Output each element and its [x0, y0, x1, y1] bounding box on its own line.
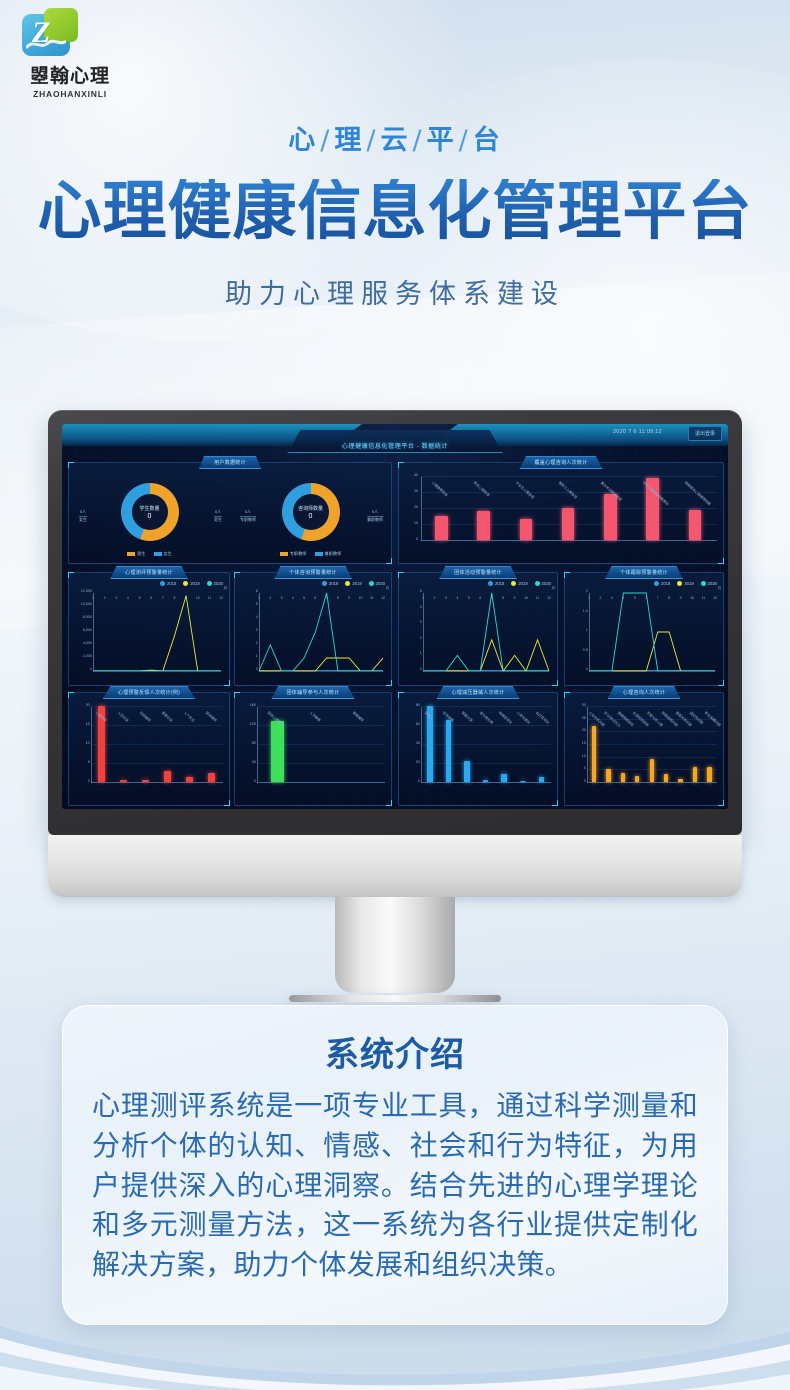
y-tick-label: 1	[420, 651, 422, 655]
y-tick-label: 4	[256, 615, 258, 619]
y-tick-label: 2,000	[83, 654, 92, 658]
line-series-svg	[589, 593, 715, 671]
brand-name-cn: 曌翰心理	[14, 61, 126, 88]
x-tick-label: 4	[292, 596, 294, 600]
x-tick-label: 教职工心理普查	[557, 480, 578, 500]
donut-donut-counselors: 咨询师数量00人专职教师0人兼职教师专职教师兼职教师	[230, 483, 391, 561]
legend-item[interactable]: 2019	[345, 581, 361, 586]
y-tick-label: 25	[582, 716, 586, 720]
brand-name-en: ZHAOHANXINLI	[14, 89, 126, 99]
x-tick-label: 班级辅导	[138, 710, 151, 723]
monitor-mockup: 心理健康信息化管理平台 - 数据统计 2020 7 6 11:09:12 退出登…	[48, 410, 742, 1002]
donut-donut-students: 学生数量00人女生0人男生男生女生	[69, 483, 230, 561]
legend-item[interactable]: 2018	[654, 581, 670, 586]
system-intro-card: 系统介绍 心理测评系统是一项专业工具，通过科学测量和分析个体的认知、情感、社会和…	[62, 1005, 728, 1325]
x-tick-label: 12	[547, 596, 551, 600]
y-tick-label: 1	[586, 628, 588, 632]
x-tick-label: 10	[359, 596, 363, 600]
chart-panel-title: 心理测评预警量统计	[110, 566, 188, 579]
hero-kicker: 心/理/云/平/台	[0, 118, 790, 157]
y-tick-label: 5	[420, 589, 422, 593]
bar	[621, 773, 625, 782]
line-series-svg	[423, 593, 549, 671]
bar	[120, 780, 127, 782]
y-tick-label: 10	[414, 521, 418, 525]
y-tick-label: 0	[256, 667, 258, 671]
x-tick-label: 1	[258, 596, 260, 600]
monitor-stand-base	[289, 995, 501, 1002]
gridline	[587, 757, 717, 758]
donut-legend: 男生女生	[69, 551, 230, 557]
x-tick-label: 12	[381, 596, 385, 600]
y-tick-label: 40	[414, 473, 418, 477]
chart-panel-p1[interactable]: 用户数据统计学生数量00人女生0人男生男生女生咨询师数量00人专职教师0人兼职教…	[68, 462, 392, 564]
x-tick-label: 心率反馈仪	[516, 710, 532, 725]
plot-area: 00.511.52123456789101112月	[589, 593, 715, 671]
y-tick-label: 10,000	[81, 602, 92, 606]
line-series-2020	[589, 593, 715, 671]
bar	[693, 767, 697, 782]
bar	[592, 726, 596, 782]
bar	[604, 494, 617, 540]
plot-area: 04080120160团体心理辅导入学教育朋辈辅导	[257, 707, 385, 783]
chart-legend: 201820192020	[488, 581, 551, 586]
legend-item[interactable]: 2020	[207, 581, 223, 586]
x-tick-label: 家庭访谈	[160, 710, 173, 723]
gridline	[587, 744, 717, 745]
hero-kicker-separator: /	[459, 125, 470, 156]
chart-panel-p5[interactable]: 团体活动预警量统计012345123456789101112月201820192…	[398, 572, 558, 686]
bar	[435, 516, 448, 540]
x-tick-label: 击打宣泄仪	[535, 710, 551, 725]
chart-panel-p9[interactable]: 心理减压器械人次统计020406080宣泄人宣泄球棒智能沙盘音乐放松椅呐喊宣泄仪…	[398, 692, 558, 806]
x-tick-label: 团体辅导	[204, 710, 217, 723]
x-tick-label: 音乐放松椅	[479, 710, 495, 725]
y-tick-label: 40	[416, 741, 420, 745]
y-axis	[421, 477, 422, 541]
x-tick-label: 毕业生心理普查	[515, 480, 536, 500]
plot-area: 010203040心理健康普查新生心理普查毕业生心理普查教职工心理普查重点关注群…	[421, 477, 717, 541]
donut-ring: 咨询师数量0	[282, 483, 340, 541]
bar	[464, 761, 470, 782]
page-title: 心理健康信息化管理平台	[0, 179, 790, 246]
plot-area: 02,0004,0006,0008,00010,00012,0001234567…	[93, 593, 221, 671]
x-tick-label: 心理健康普查	[430, 480, 448, 497]
plot-area: 0123456123456789101112月	[259, 593, 383, 671]
y-tick-label: 0	[88, 779, 90, 783]
legend-item: 女生	[154, 551, 172, 557]
legend-item[interactable]: 2020	[369, 581, 385, 586]
y-tick-label: 15	[86, 722, 90, 726]
brand-logo: Z 曌翰心理 ZHAOHANXINLI	[14, 8, 124, 99]
dashboard-clock: 2020 7 6 11:09:12	[613, 429, 662, 435]
gridline	[421, 744, 551, 745]
bottom-wave-decoration	[0, 1280, 790, 1390]
x-tick-label: 12	[713, 596, 717, 600]
legend-item: 专职教师	[280, 551, 307, 557]
y-tick-label: 0	[418, 779, 420, 783]
x-tick-label: 4	[622, 596, 624, 600]
donut-value: 0	[148, 513, 152, 520]
chart-panel-title: 团体活动预警量统计	[439, 566, 517, 579]
chart-panel-title: 心理预警反馈人次统计(例)	[103, 686, 195, 699]
y-tick-label: 80	[252, 741, 256, 745]
y-tick-label: 0	[254, 779, 256, 783]
y-tick-label: 15	[582, 741, 586, 745]
x-tick-label: 8	[174, 596, 176, 600]
line-series-2019	[423, 640, 549, 671]
y-tick-label: 20	[86, 703, 90, 707]
x-tick-label: 5	[634, 596, 636, 600]
x-tick-label: 呐喊宣泄仪	[497, 710, 513, 725]
bar	[208, 773, 215, 783]
x-tick-label: 9	[680, 596, 682, 600]
hero-kicker-char: 心	[288, 125, 317, 156]
donut-side-label: 0人专职教师	[240, 509, 256, 523]
bar	[562, 508, 575, 540]
gridline	[91, 782, 223, 783]
bar	[501, 774, 507, 782]
donut-center: 学生数量0	[132, 494, 168, 530]
plot-area: 012345123456789101112月	[423, 593, 549, 671]
x-tick-label: 6	[479, 596, 481, 600]
dashboard-title: 心理健康信息化管理平台 - 数据统计	[62, 441, 728, 450]
donut-label: 学生数量	[139, 505, 159, 512]
x-tick-label: 2	[104, 596, 106, 600]
x-tick-label: 2	[600, 596, 602, 600]
y-tick-label: 12,000	[81, 589, 92, 593]
y-tick-label: 1.5	[583, 609, 588, 613]
monitor-bezel: 心理健康信息化管理平台 - 数据统计 2020 7 6 11:09:12 退出登…	[48, 410, 742, 835]
chart-panel-title: 个体跟踪预警量统计	[605, 566, 683, 579]
chart-panel-p8[interactable]: 团体辅导参与人次统计04080120160团体心理辅导入学教育朋辈辅导	[234, 692, 392, 806]
legend-item: 兼职教师	[315, 551, 342, 557]
legend-item[interactable]: 2019	[511, 581, 527, 586]
line-series-2019	[259, 658, 383, 671]
bar	[606, 769, 610, 782]
chart-panel-title: 个体咨询预警量统计	[274, 566, 352, 579]
donut-label: 咨询师数量	[298, 505, 323, 512]
x-tick-label: 1	[422, 596, 424, 600]
x-tick-label: 11	[702, 596, 706, 600]
bar	[635, 776, 639, 782]
bar	[664, 774, 668, 782]
line-series-svg	[93, 593, 221, 671]
gridline	[587, 782, 717, 783]
legend-item[interactable]: 2019	[677, 581, 693, 586]
x-axis-label: 月	[718, 585, 721, 590]
x-tick-label: 7	[326, 596, 328, 600]
chart-panel-title: 团体辅导参与人次统计	[271, 686, 354, 699]
donut-side-label: 0人兼职教师	[367, 509, 383, 523]
plot-area: 05101520心理测评入校访谈班级辅导家庭访谈入户走访团体辅导	[91, 707, 223, 783]
dashboard: 心理健康信息化管理平台 - 数据统计 2020 7 6 11:09:12 退出登…	[62, 424, 728, 809]
y-tick-label: 20	[416, 760, 420, 764]
x-tick-label: 入学教育	[309, 710, 322, 723]
hero-subtitle: 助力心理服务体系建设	[0, 272, 790, 311]
hero-kicker-separator: /	[366, 125, 377, 156]
y-tick-label: 30	[582, 703, 586, 707]
logo-letter: Z	[32, 16, 50, 50]
gridline	[91, 706, 223, 707]
y-tick-label: 20	[414, 505, 418, 509]
monitor-stand-neck	[335, 897, 455, 993]
gridline	[421, 782, 551, 783]
x-tick-label: 8	[502, 596, 504, 600]
gridline	[421, 476, 717, 477]
legend-item[interactable]: 2018	[160, 581, 176, 586]
hero-kicker-separator: /	[320, 125, 331, 156]
hero-kicker-separator: /	[413, 125, 424, 156]
bar	[446, 720, 452, 782]
x-tick-label: 11	[370, 596, 374, 600]
hero-kicker-char: 云	[381, 125, 410, 156]
x-axis-label: 月	[386, 585, 389, 590]
x-tick-label: 入校访谈	[116, 710, 129, 723]
y-tick-label: 2	[256, 641, 258, 645]
y-tick-label: 0	[416, 537, 418, 541]
y-axis	[421, 707, 422, 783]
x-tick-label: 10	[690, 596, 694, 600]
x-tick-label: 4	[127, 596, 129, 600]
y-tick-label: 0	[586, 667, 588, 671]
y-tick-label: 0	[420, 667, 422, 671]
line-series-svg	[259, 593, 383, 671]
intro-body: 心理测评系统是一项专业工具，通过科学测量和分析个体的认知、情感、社会和行为特征，…	[92, 1086, 698, 1285]
line-series-2019	[93, 596, 221, 671]
y-tick-label: 0.5	[583, 648, 588, 652]
gridline	[587, 706, 717, 707]
chart-panel-title: 用户数据统计	[199, 456, 261, 469]
y-tick-label: 10	[582, 754, 586, 758]
chart-panel-p4[interactable]: 个体咨询预警量统计0123456123456789101112月20182019…	[234, 572, 392, 686]
gridline	[587, 731, 717, 732]
plot-area: 051015202530人际关系问题学习/考试压力情绪情感困扰生涯规划困惑恋爱与…	[587, 707, 717, 783]
donut-center: 咨询师数量0	[293, 494, 329, 530]
x-tick-label: 3	[445, 596, 447, 600]
gridline	[91, 744, 223, 745]
intro-heading: 系统介绍	[92, 1027, 698, 1076]
y-tick-label: 30	[414, 489, 418, 493]
logout-button[interactable]: 退出登录	[688, 426, 722, 441]
y-tick-label: 0	[584, 779, 586, 783]
chart-panel-p3[interactable]: 心理测评预警量统计02,0004,0006,0008,00010,00012,0…	[68, 572, 230, 686]
hero-kicker-char: 台	[473, 125, 502, 156]
x-tick-label: 5	[468, 596, 470, 600]
chart-legend: 201820192020	[160, 581, 223, 586]
y-tick-label: 20	[582, 728, 586, 732]
x-tick-label: 9	[348, 596, 350, 600]
bar	[520, 519, 533, 540]
monitor-chin	[48, 835, 742, 897]
chart-panel-title: 心理减压器械人次统计	[436, 686, 519, 699]
y-tick-label: 80	[416, 703, 420, 707]
y-tick-label: 40	[252, 760, 256, 764]
chart-panel-p10[interactable]: 心理咨询人次统计051015202530人际关系问题学习/考试压力情绪情感困扰生…	[564, 692, 724, 806]
donut-side-label: 0人男生	[214, 509, 222, 523]
donut-value: 0	[309, 513, 313, 520]
x-tick-label: 9	[514, 596, 516, 600]
y-tick-label: 2	[586, 589, 588, 593]
y-tick-label: 10	[86, 741, 90, 745]
chart-panel-title: 心理咨询人次统计	[608, 686, 680, 699]
y-tick-label: 5	[584, 766, 586, 770]
donut-legend: 专职教师兼职教师	[230, 551, 391, 557]
x-tick-label: 6	[645, 596, 647, 600]
x-tick-label: 12	[219, 596, 223, 600]
y-tick-label: 0	[90, 667, 92, 671]
x-tick-label: 5	[303, 596, 305, 600]
chart-legend: 201820192020	[322, 581, 385, 586]
y-tick-label: 6	[256, 589, 258, 593]
x-tick-label: 入户走访	[182, 710, 195, 723]
bar	[164, 771, 171, 782]
x-tick-label: 1	[92, 596, 94, 600]
y-tick-label: 120	[250, 722, 256, 726]
gridline	[421, 540, 717, 541]
bar	[477, 511, 490, 540]
x-tick-label: 4	[456, 596, 458, 600]
bar	[483, 780, 489, 782]
x-tick-label: 8	[668, 596, 670, 600]
gridline	[421, 706, 551, 707]
logo-mark-icon: Z	[22, 8, 84, 58]
monitor-screen: 心理健康信息化管理平台 - 数据统计 2020 7 6 11:09:12 退出登…	[62, 424, 728, 809]
x-tick-label: 10	[524, 596, 528, 600]
bar	[707, 767, 711, 782]
y-tick-label: 6,000	[83, 628, 92, 632]
bar	[271, 721, 284, 782]
y-tick-label: 3	[420, 620, 422, 624]
line-series-2020	[259, 593, 383, 671]
x-tick-label: 朋辈辅导	[352, 710, 365, 723]
gridline	[257, 782, 385, 783]
plot-area: 020406080宣泄人宣泄球棒智能沙盘音乐放松椅呐喊宣泄仪心率反馈仪击打宣泄仪	[421, 707, 551, 783]
x-tick-label: 3	[611, 596, 613, 600]
legend-item[interactable]: 2020	[535, 581, 551, 586]
dashboard-header: 心理健康信息化管理平台 - 数据统计 2020 7 6 11:09:12 退出登…	[62, 424, 728, 454]
x-tick-label: 6	[314, 596, 316, 600]
y-tick-label: 4	[420, 605, 422, 609]
y-axis	[91, 707, 92, 783]
hero-kicker-char: 平	[427, 125, 456, 156]
chart-panel-p7[interactable]: 心理预警反馈人次统计(例)05101520心理测评入校访谈班级辅导家庭访谈入户走…	[68, 692, 230, 806]
bar	[520, 781, 526, 782]
x-tick-label: 2	[269, 596, 271, 600]
legend-item[interactable]: 2018	[322, 581, 338, 586]
x-tick-label: 7	[162, 596, 164, 600]
donut-ring: 学生数量0	[121, 483, 179, 541]
legend-item[interactable]: 2019	[183, 581, 199, 586]
x-tick-label: 特殊群体心理健康档案	[684, 480, 713, 506]
gridline	[91, 763, 223, 764]
x-tick-label: 11	[208, 596, 212, 600]
gridline	[91, 725, 223, 726]
y-tick-label: 3	[256, 628, 258, 632]
bar	[678, 779, 682, 782]
chart-legend: 201820192020	[654, 581, 717, 586]
x-tick-label: 6	[150, 596, 152, 600]
legend-item[interactable]: 2018	[488, 581, 504, 586]
x-tick-label: 8	[337, 596, 339, 600]
y-tick-label: 1	[256, 654, 258, 658]
x-tick-label: 3	[281, 596, 283, 600]
x-tick-label: 智能沙盘	[460, 710, 473, 723]
x-tick-label: 5	[139, 596, 141, 600]
y-tick-label: 5	[88, 760, 90, 764]
bar	[142, 780, 149, 782]
bar	[650, 759, 654, 782]
y-tick-label: 5	[256, 602, 258, 606]
x-axis-label: 月	[552, 585, 555, 590]
chart-panel-p6[interactable]: 个体跟踪预警量统计00.511.52123456789101112月201820…	[564, 572, 724, 686]
y-tick-label: 160	[250, 703, 256, 707]
line-series-2019	[589, 632, 715, 671]
y-axis	[257, 707, 258, 783]
x-tick-label: 7	[491, 596, 493, 600]
x-tick-label: 11	[536, 596, 540, 600]
bar	[539, 777, 545, 782]
y-tick-label: 8,000	[83, 615, 92, 619]
gridline	[257, 706, 385, 707]
y-tick-label: 60	[416, 722, 420, 726]
gridline	[421, 763, 551, 764]
x-tick-label: 1	[588, 596, 590, 600]
chart-panel-p2[interactable]: 覆盖心理咨询人次统计010203040心理健康普查新生心理普查毕业生心理普查教职…	[398, 462, 724, 564]
bar	[689, 510, 702, 540]
x-tick-label: 2	[434, 596, 436, 600]
gridline	[421, 725, 551, 726]
x-tick-label: 10	[196, 596, 200, 600]
bar	[186, 777, 193, 782]
x-tick-label: 7	[657, 596, 659, 600]
donut-side-label: 0人女生	[79, 509, 87, 523]
x-tick-label: 9	[185, 596, 187, 600]
x-axis-label: 月	[224, 585, 227, 590]
y-tick-label: 2	[420, 636, 422, 640]
hero-kicker-char: 理	[334, 125, 363, 156]
x-tick-label: 3	[115, 596, 117, 600]
y-tick-label: 4,000	[83, 641, 92, 645]
chart-panel-title: 覆盖心理咨询人次统计	[519, 456, 602, 469]
legend-item: 男生	[127, 551, 145, 557]
legend-item[interactable]: 2020	[701, 581, 717, 586]
hero-section: 心/理/云/平/台 心理健康信息化管理平台 助力心理服务体系建设	[0, 118, 790, 311]
x-tick-label: 新生心理普查	[473, 480, 491, 497]
